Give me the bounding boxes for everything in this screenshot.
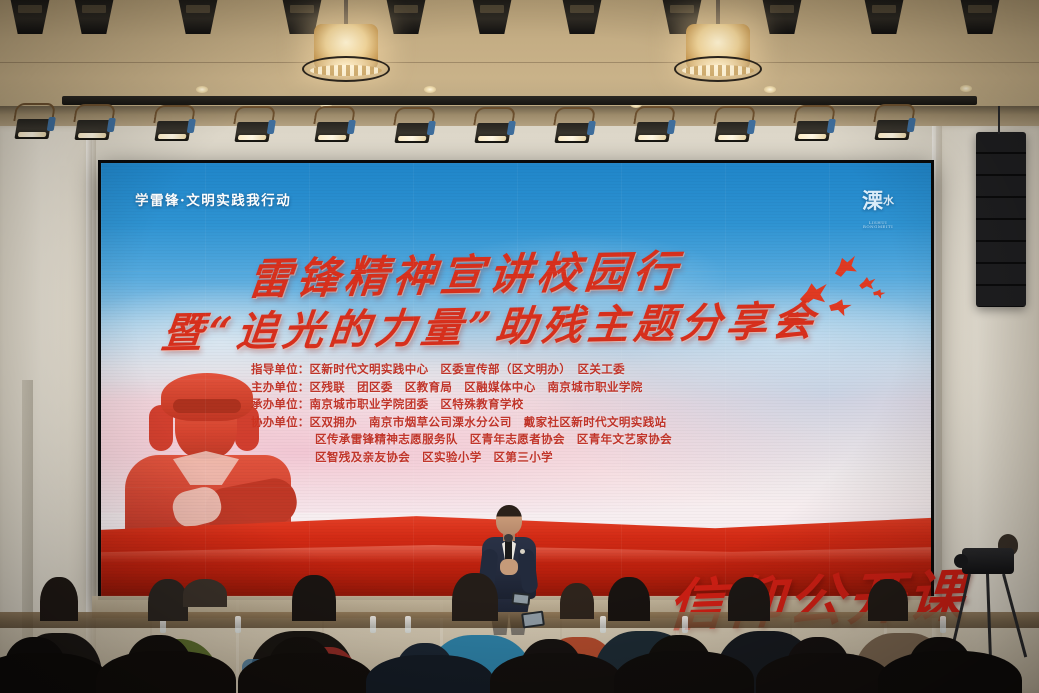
- lighting-truss-bar: [62, 96, 977, 105]
- line-array-speaker: [976, 132, 1026, 307]
- audience-phone: [521, 611, 545, 629]
- organizer-value: 区残联 团区委 区教育局 区融媒体中心 南京城市职业学院: [310, 380, 643, 394]
- chandelier: [300, 22, 392, 98]
- speaker-cable: [998, 106, 1000, 134]
- screenshot-root: 学雷锋·文明实践我行动 溧 水 LISHUI RONGMEITI 雷锋精神宣讲校…: [0, 0, 1039, 693]
- organizer-value: 区传承雷锋精神志愿服务队 区青年志愿者协会 区青年文艺家协会: [315, 432, 672, 446]
- wall-seam: [0, 62, 1039, 63]
- logo-secondary-char: 水: [883, 196, 894, 206]
- lishui-media-logo: 溧 水 LISHUI RONGMEITI: [853, 179, 903, 223]
- organizer-value: 区双拥办 南京市烟草公司溧水分公司 戴家社区新时代文明实践站: [310, 415, 667, 429]
- organizer-value: 南京城市职业学院团委 区特殊教育学校: [310, 397, 524, 411]
- organizer-value: 区新时代文明实践中心 区委宣传部（区文明办） 区关工委: [310, 362, 626, 376]
- audience-phone: [511, 592, 530, 606]
- screen-kicker-text: 学雷锋·文明实践我行动: [135, 189, 291, 209]
- logo-subtext: LISHUI RONGMEITI: [853, 221, 903, 229]
- organizer-value: 区智残及亲友协会 区实验小学 区第三小学: [315, 450, 553, 464]
- chandelier: [672, 22, 764, 98]
- audience-area: [0, 533, 1039, 693]
- logo-main-char: 溧: [862, 191, 883, 211]
- screen-title-line-2: 暨“追光的力量”助残主题分享会: [159, 287, 822, 360]
- organizer-list: 指导单位：区新时代文明实践中心 区委宣传部（区文明办） 区关工委 主办单位：区残…: [251, 361, 791, 466]
